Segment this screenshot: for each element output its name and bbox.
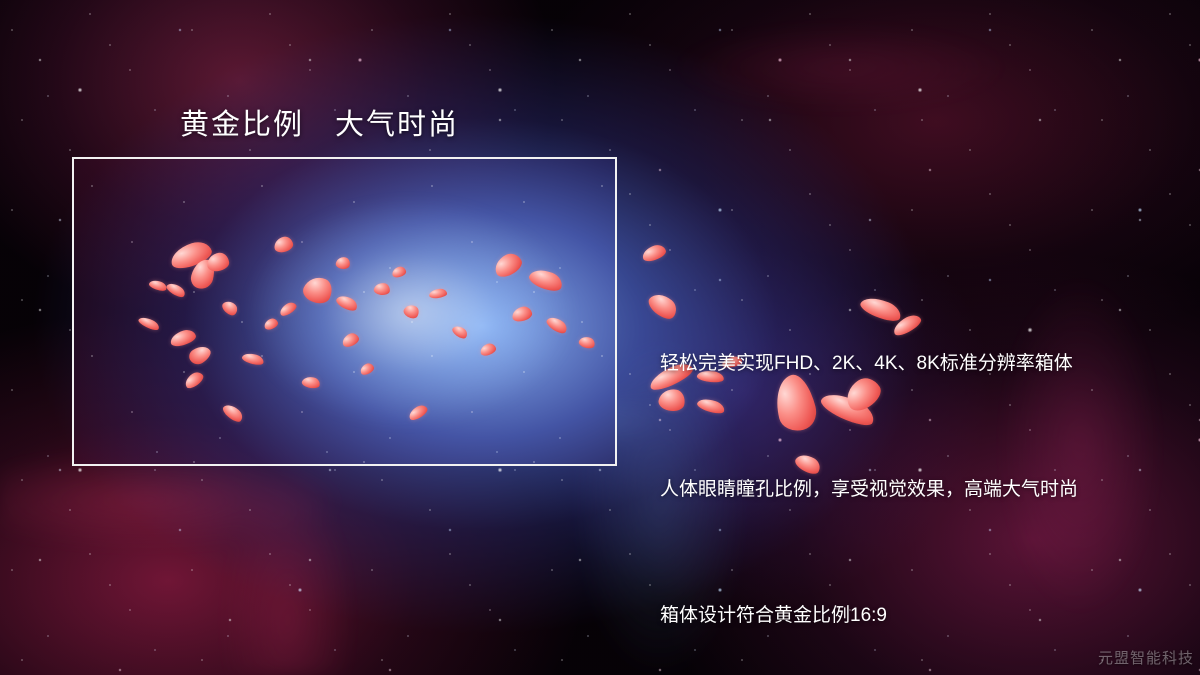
body-line-3: 箱体设计符合黄金比例16:9 <box>660 595 1078 637</box>
framed-nebula-core-glow <box>74 159 615 464</box>
watermark: 元盟智能科技 <box>1098 647 1194 668</box>
framed-galaxy-image <box>74 159 615 464</box>
body-line-2: 人体眼睛瞳孔比例，享受视觉效果，高端大气时尚 <box>660 469 1078 511</box>
image-frame <box>72 157 617 466</box>
body-text-block: 轻松完美实现FHD、2K、4K、8K标准分辨率箱体 人体眼睛瞳孔比例，享受视觉效… <box>660 259 1078 675</box>
presentation-slide: 黄金比例 大气时尚 轻松完美实现FHD、2K、4K、8K标准分辨率箱体 人体眼睛… <box>0 0 1200 675</box>
framed-starfield <box>74 159 615 464</box>
image-frame-content <box>74 159 615 464</box>
page-title: 黄金比例 大气时尚 <box>180 101 459 143</box>
body-line-1: 轻松完美实现FHD、2K、4K、8K标准分辨率箱体 <box>660 343 1078 385</box>
framed-nebula-background <box>74 159 615 464</box>
